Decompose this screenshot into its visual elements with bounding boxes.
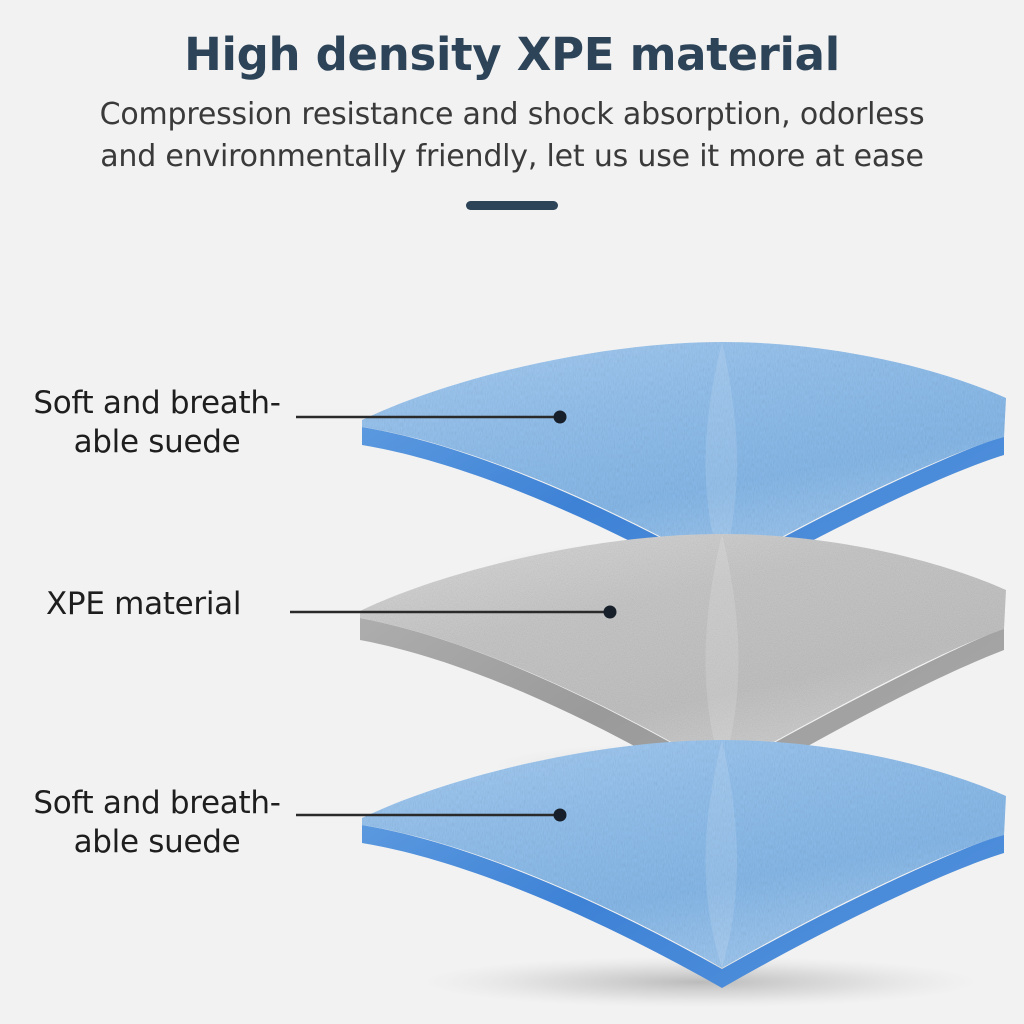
layer-suede-bottom [362,740,1006,988]
leader-dot-suede-top [554,411,567,424]
callout-label-xpe: XPE material [46,585,276,624]
callout-label-suede-top: Soft and breath- able suede [22,384,292,463]
leader-dot-suede-bottom [554,809,567,822]
callout-label-suede-bottom: Soft and breath- able suede [22,784,292,863]
leader-dot-xpe [604,606,617,619]
layer-diagram-stage: Soft and breath- able suede XPE material… [0,0,1024,1024]
infographic-page: High density XPE material Compression re… [0,0,1024,1024]
exploded-layer-diagram [0,0,1024,1024]
